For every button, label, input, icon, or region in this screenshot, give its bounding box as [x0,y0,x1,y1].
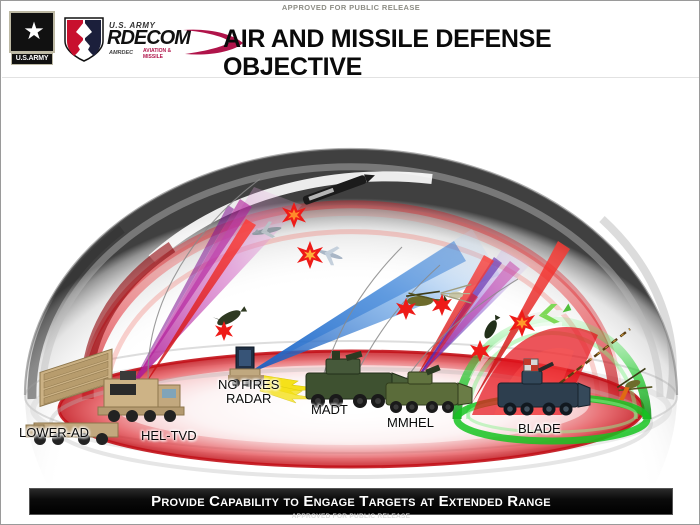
label-blade: BLADE [518,422,561,436]
seal-box: ★ [9,11,55,53]
slide-canvas: APPROVED FOR PUBLIC RELEASE ★ U.S.ARMY U… [0,0,700,525]
us-army-seal-logo: ★ U.S.ARMY [9,11,55,67]
rdecom-wordmark: RDECOM [107,28,190,48]
shield-icon [63,15,105,63]
label-madt: MADT [311,403,348,417]
star-icon: ★ [22,20,46,44]
page-title: AIR AND MISSILE DEFENSE OBJECTIVE [223,25,693,81]
amd-objective-diagram [2,79,700,483]
army-wordmark: U.S.ARMY [11,53,53,65]
aviation-missile-subtext: AVIATION & MISSILE [143,49,183,60]
diagram-svg [2,79,700,483]
rdecom-logo: U.S. ARMY RDECOM AMRDEC AVIATION & MISSI… [63,13,213,65]
footer-watermark: APPROVED FOR PUBLIC RELEASE [1,513,700,520]
banner-text: Provide Capability to Engage Targets at … [30,489,672,514]
key-message-banner: Provide Capability to Engage Targets at … [29,488,673,515]
amrdec-subtext: AMRDEC [109,50,133,56]
label-hel-tvd: HEL-TVD [141,429,197,443]
label-mmhel: MMHEL [387,416,434,430]
approval-notice: APPROVED FOR PUBLIC RELEASE [1,3,700,12]
header-divider [2,77,700,78]
label-lower-ad: LOWER-AD [19,426,89,440]
label-ng-fires-radar: NG FIRES RADAR [218,378,279,406]
